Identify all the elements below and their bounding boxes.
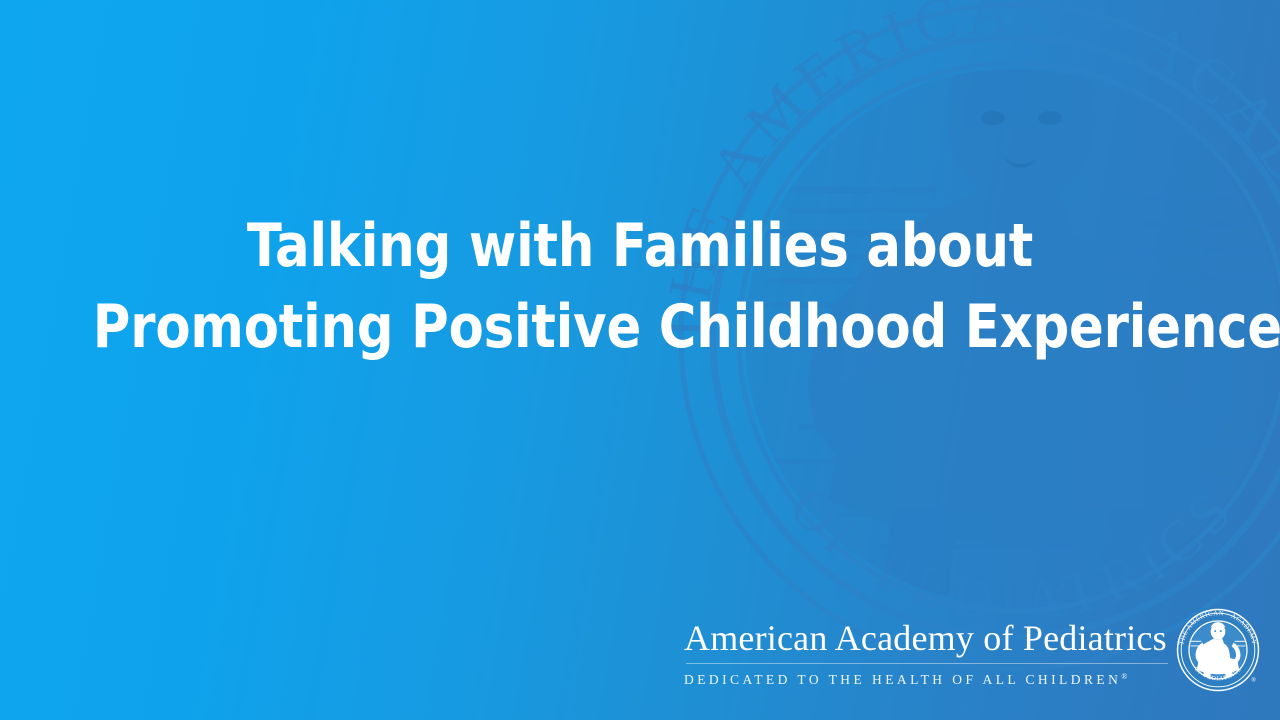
- aap-logo-text: American Academy of Pediatrics DEDICATED…: [684, 612, 1168, 688]
- title-line-2: Promoting Positive Childhood Experiences: [93, 287, 1187, 368]
- registered-mark: ®: [1121, 672, 1127, 681]
- aap-wordmark: American Academy of Pediatrics: [684, 618, 1168, 658]
- aap-seal-icon: THE AMERICAN · ACADEMY OF PEDIATRICS: [1172, 604, 1264, 696]
- page-title: Talking with Families about Promoting Po…: [0, 206, 1280, 368]
- logo-divider: [686, 663, 1168, 664]
- slide-canvas: THE AMERICAN · ACADEMY OF PEDIATRICS: [0, 0, 1280, 720]
- aap-logo-lockup: American Academy of Pediatrics DEDICATED…: [684, 600, 1264, 700]
- seal-registered-mark: ®: [1251, 676, 1256, 683]
- aap-tagline: DEDICATED TO THE HEALTH OF ALL CHILDREN®: [684, 669, 1168, 688]
- title-line-1: Talking with Families about: [93, 206, 1187, 287]
- aap-tagline-text: DEDICATED TO THE HEALTH OF ALL CHILDREN: [684, 672, 1121, 687]
